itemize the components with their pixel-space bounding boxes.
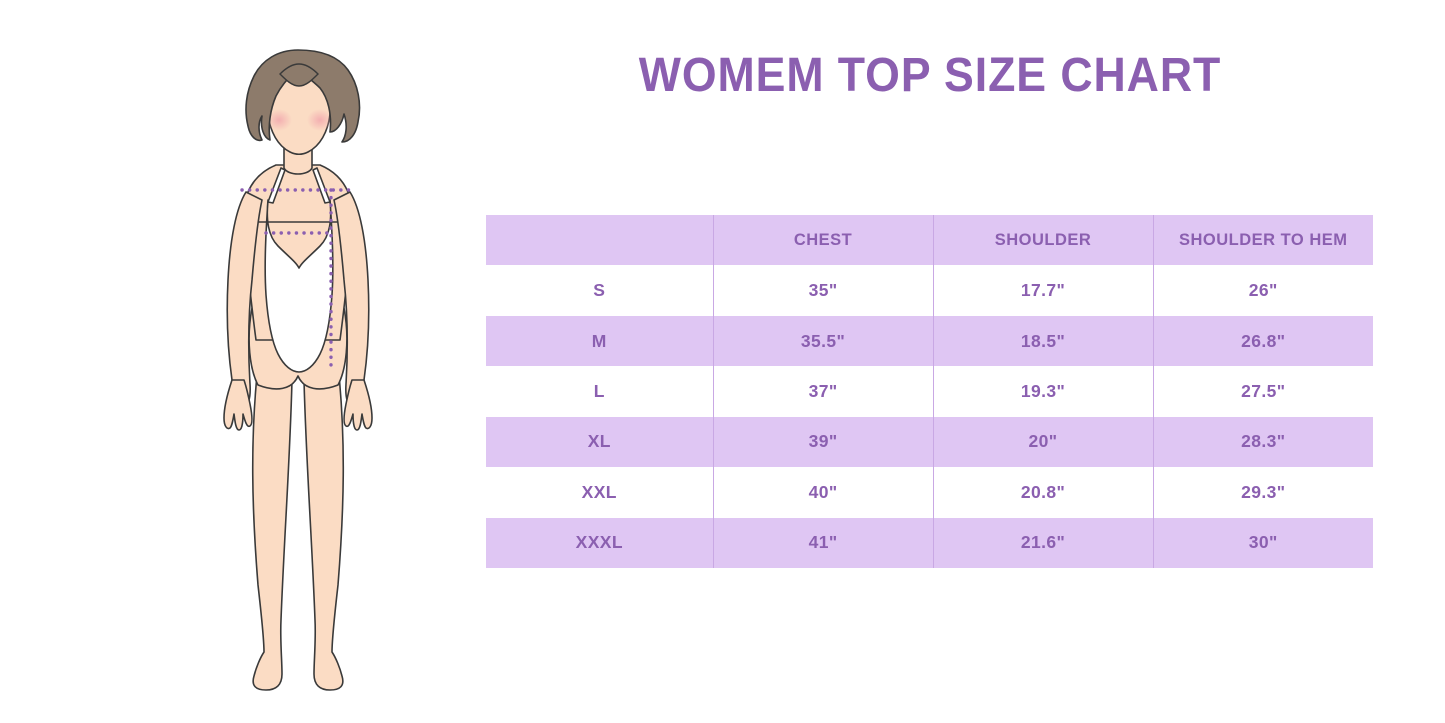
cell-shoulder: 17.7" [933, 265, 1153, 315]
table-row: XXXL 41" 21.6" 30" [486, 518, 1373, 569]
right-leg [304, 365, 343, 690]
cell-size: L [486, 366, 713, 416]
cell-chest: 35.5" [713, 316, 933, 366]
cell-chest: 40" [713, 467, 933, 517]
cell-shoulder: 20.8" [933, 467, 1153, 517]
size-chart-table-container: CHEST SHOULDER SHOULDER TO HEM S 35" 17.… [486, 215, 1373, 568]
table-row: M 35.5" 18.5" 26.8" [486, 316, 1373, 366]
table-header-row: CHEST SHOULDER SHOULDER TO HEM [486, 215, 1373, 265]
cell-size: XL [486, 417, 713, 467]
cell-shoulder: 20" [933, 417, 1153, 467]
column-header-shoulder-to-hem: SHOULDER TO HEM [1153, 215, 1373, 265]
cell-shoulder: 19.3" [933, 366, 1153, 416]
right-blush [307, 109, 333, 131]
cell-chest: 39" [713, 417, 933, 467]
cell-size: XXL [486, 467, 713, 517]
cell-shoulder-to-hem: 27.5" [1153, 366, 1373, 416]
cell-shoulder-to-hem: 29.3" [1153, 467, 1373, 517]
cell-shoulder: 18.5" [933, 316, 1153, 366]
cell-size: M [486, 316, 713, 366]
cell-chest: 35" [713, 265, 933, 315]
table-row: XXL 40" 20.8" 29.3" [486, 467, 1373, 517]
cell-shoulder-to-hem: 28.3" [1153, 417, 1373, 467]
cell-shoulder-to-hem: 30" [1153, 518, 1373, 569]
column-header-size [486, 215, 713, 265]
cell-chest: 37" [713, 366, 933, 416]
cell-shoulder-to-hem: 26.8" [1153, 316, 1373, 366]
table-row: L 37" 19.3" 27.5" [486, 366, 1373, 416]
cell-chest: 41" [713, 518, 933, 569]
female-body-illustration [180, 40, 420, 700]
page-title: WOMEM TOP SIZE CHART [516, 48, 1344, 103]
illustration-panel: SHOULDER CHEST SHOULDER TO HEM [0, 0, 470, 723]
table-row: XL 39" 20" 28.3" [486, 417, 1373, 467]
column-header-shoulder: SHOULDER [933, 215, 1153, 265]
cell-size: XXXL [486, 518, 713, 569]
column-header-chest: CHEST [713, 215, 933, 265]
size-chart-table: CHEST SHOULDER SHOULDER TO HEM S 35" 17.… [486, 215, 1373, 568]
left-leg [253, 365, 292, 690]
cell-shoulder: 21.6" [933, 518, 1153, 569]
cell-size: S [486, 265, 713, 315]
table-row: S 35" 17.7" 26" [486, 265, 1373, 315]
cell-shoulder-to-hem: 26" [1153, 265, 1373, 315]
